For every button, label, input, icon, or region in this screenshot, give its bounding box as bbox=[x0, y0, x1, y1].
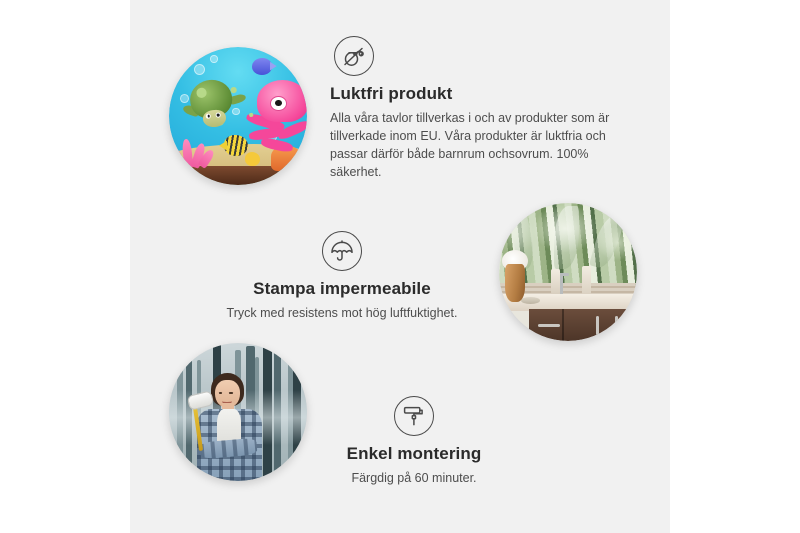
product-feature-banner: Luktfri produkt Alla våra tavlor tillver… bbox=[0, 0, 800, 533]
feature-description: Färgdig på 60 minuter. bbox=[318, 469, 510, 487]
feature-title: Luktfri produkt bbox=[330, 84, 626, 104]
feature-odour-free: Luktfri produkt Alla våra tavlor tillver… bbox=[330, 36, 626, 182]
feature-title: Stampa impermeabile bbox=[214, 279, 470, 299]
feature-easy-mounting: Enkel montering Färgdig på 60 minuter. bbox=[318, 396, 510, 487]
bathroom-photo-image bbox=[499, 203, 637, 341]
paint-roller-icon bbox=[394, 396, 434, 436]
feature-description: Tryck med resistens mot hög luftfuktighe… bbox=[214, 304, 470, 322]
no-spray-bottle-icon bbox=[334, 36, 374, 76]
umbrella-icon bbox=[322, 231, 362, 271]
feature-waterproof-print: Stampa impermeabile Tryck med resistens … bbox=[214, 231, 470, 322]
feature-title: Enkel montering bbox=[318, 444, 510, 464]
feature-description: Alla våra tavlor tillverkas i och av pro… bbox=[330, 109, 626, 182]
painter-photo-image bbox=[169, 343, 307, 481]
ocean-artwork-image bbox=[169, 47, 307, 185]
